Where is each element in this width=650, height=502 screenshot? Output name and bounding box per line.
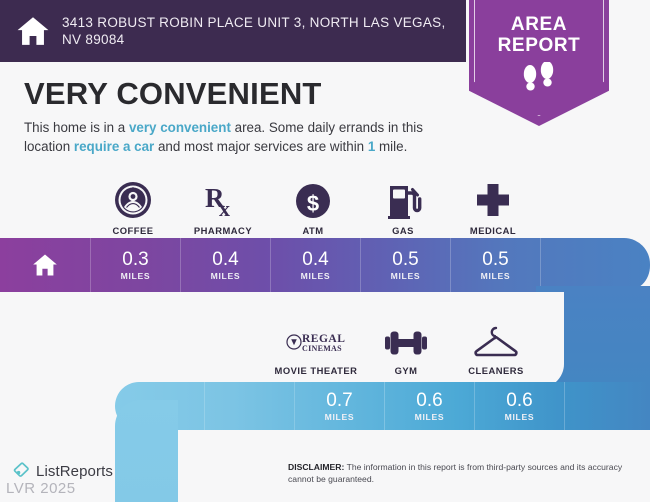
distance-value: 0.7 xyxy=(326,391,352,410)
area-report-infographic: 3413 ROBUST ROBIN PLACE UNIT 3, NORTH LA… xyxy=(0,0,650,502)
medical-cross-icon xyxy=(448,176,538,220)
category-row-secondary: REGAL CINEMAS MOVIE THEATER GYM xyxy=(271,316,541,376)
distance-cell: 0.4 MILES xyxy=(181,238,271,292)
dumbbell-gym-icon xyxy=(361,316,451,360)
disclaimer: DISCLAIMER: The information in this repo… xyxy=(288,462,636,485)
distance-unit: MILES xyxy=(391,271,421,281)
distance-value: 0.3 xyxy=(122,250,148,269)
badge-title-line2: REPORT xyxy=(469,35,609,56)
distance-unit: MILES xyxy=(211,271,241,281)
clothes-hanger-icon xyxy=(451,316,541,360)
svg-text:$: $ xyxy=(307,191,319,216)
desc-highlight-2: require a car xyxy=(74,139,154,154)
category-row-primary: COFFEE R x PHARMACY $ ATM xyxy=(88,176,538,236)
distance-cell: 0.7 MILES xyxy=(295,382,385,430)
distance-cell: 0.6 MILES xyxy=(385,382,475,430)
distance-cell: 0.6 MILES xyxy=(475,382,565,430)
property-address: 3413 ROBUST ROBIN PLACE UNIT 3, NORTH LA… xyxy=(62,14,452,48)
distance-unit: MILES xyxy=(121,271,151,281)
distance-cell-empty xyxy=(205,382,295,430)
distance-value: 0.6 xyxy=(416,391,442,410)
desc-highlight-1: very convenient xyxy=(129,120,231,135)
category-label: MEDICAL xyxy=(448,225,538,236)
desc-text-3: and most major services are within xyxy=(154,139,368,154)
distance-cell: 0.3 MILES xyxy=(91,238,181,292)
category-label: MOVIE THEATER xyxy=(271,365,361,376)
category-coffee: COFFEE xyxy=(88,176,178,236)
category-gym: GYM xyxy=(361,316,451,376)
distance-unit: MILES xyxy=(301,271,331,281)
distance-value: 0.4 xyxy=(212,250,238,269)
distance-cell: 0.4 MILES xyxy=(271,238,361,292)
category-atm: $ ATM xyxy=(268,176,358,236)
path-connector-left xyxy=(115,400,178,502)
watermark: LVR 2025 xyxy=(6,480,76,497)
home-marker-cell xyxy=(0,238,91,292)
distance-cell: 0.5 MILES xyxy=(361,238,451,292)
category-label: PHARMACY xyxy=(178,225,268,236)
band-tail xyxy=(541,238,650,292)
distance-value: 0.5 xyxy=(482,250,508,269)
disclaimer-label: DISCLAIMER: xyxy=(288,462,344,472)
badge-title: AREA REPORT xyxy=(469,14,609,56)
badge-title-line1: AREA xyxy=(469,14,609,35)
distance-band-primary: 0.3 MILES 0.4 MILES 0.4 MILES 0.5 MILES … xyxy=(0,238,650,292)
rx-pharmacy-icon: R x xyxy=(178,176,268,220)
svg-text:CINEMAS: CINEMAS xyxy=(302,344,342,353)
dollar-atm-icon: $ xyxy=(268,176,358,220)
category-label: GAS xyxy=(358,225,448,236)
category-label: GYM xyxy=(361,365,451,376)
distance-value: 0.5 xyxy=(392,250,418,269)
page-title: VERY CONVENIENT xyxy=(24,76,322,112)
category-label: CLEANERS xyxy=(451,365,541,376)
distance-unit: MILES xyxy=(481,271,511,281)
category-movie-theater: REGAL CINEMAS MOVIE THEATER xyxy=(271,316,361,376)
desc-text-4: mile. xyxy=(375,139,407,154)
category-label: ATM xyxy=(268,225,358,236)
category-cleaners: CLEANERS xyxy=(451,316,541,376)
summary-description: This home is in a very convenient area. … xyxy=(24,118,460,156)
regal-cinemas-icon: REGAL CINEMAS xyxy=(271,316,361,360)
distance-unit: MILES xyxy=(505,412,535,422)
distance-value: 0.4 xyxy=(302,250,328,269)
footprints-icon xyxy=(469,62,609,96)
gas-pump-icon xyxy=(358,176,448,220)
listreports-brand: ListReports xyxy=(36,463,113,480)
desc-text-1: This home is in a xyxy=(24,120,129,135)
category-gas: GAS xyxy=(358,176,448,236)
listreports-tag-icon xyxy=(12,462,31,481)
svg-text:x: x xyxy=(219,196,230,220)
distance-value: 0.6 xyxy=(506,391,532,410)
distance-band-secondary: 0.7 MILES 0.6 MILES 0.6 MILES xyxy=(115,382,650,430)
starbucks-coffee-icon xyxy=(88,176,178,220)
distance-cell: 0.5 MILES xyxy=(451,238,541,292)
distance-unit: MILES xyxy=(415,412,445,422)
category-label: COFFEE xyxy=(88,225,178,236)
distance-unit: MILES xyxy=(325,412,355,422)
area-report-badge: AREA REPORT xyxy=(469,0,609,126)
listreports-logo[interactable]: ListReports xyxy=(12,462,113,481)
band-tail xyxy=(565,382,650,430)
category-pharmacy: R x PHARMACY xyxy=(178,176,268,236)
home-icon xyxy=(16,14,50,48)
category-medical: MEDICAL xyxy=(448,176,538,236)
address-header: 3413 ROBUST ROBIN PLACE UNIT 3, NORTH LA… xyxy=(0,0,466,62)
